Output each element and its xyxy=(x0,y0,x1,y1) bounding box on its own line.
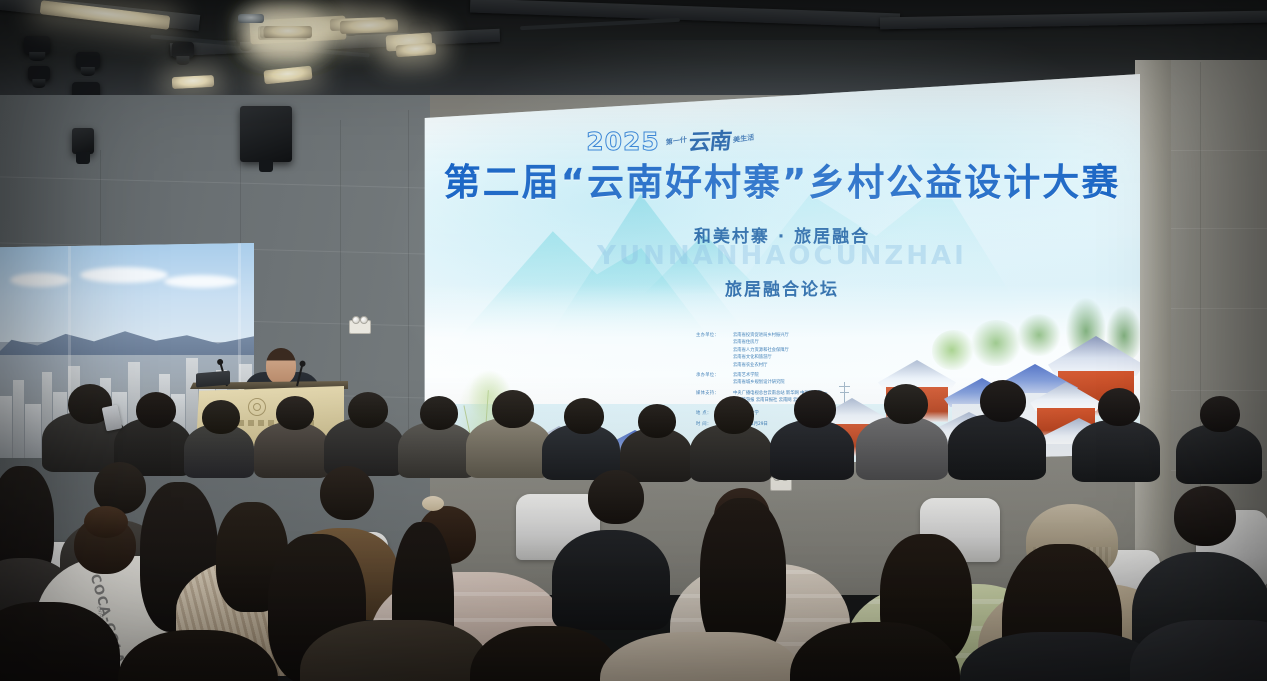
village-tree xyxy=(970,320,1022,366)
person-head xyxy=(1098,388,1140,426)
banner-cloud xyxy=(10,273,70,287)
credit-value: 云南省住房厅 xyxy=(733,339,789,346)
person-head xyxy=(1174,486,1236,546)
person-head xyxy=(348,392,388,428)
banner-cloud xyxy=(80,267,168,283)
credit-value: 云南省农业农村厅 xyxy=(733,362,789,369)
screen-subtitle-2: 旅居融合论坛 xyxy=(424,275,1140,300)
banner-cloud xyxy=(164,275,238,288)
screen-main-title: 第二届“云南好村寨”乡村公益设计大赛 xyxy=(424,152,1140,206)
stage-spotlight-2 xyxy=(76,52,100,69)
brand-small-right: 美生活 xyxy=(733,133,754,144)
person-shoulders xyxy=(254,422,330,478)
brand-small-top: 第一什 xyxy=(666,136,687,147)
emergency-lamp-right xyxy=(360,316,368,324)
credit-values: 云南省投资促进局乡村振兴厅 云南省住房厅 云南省人力资源和社会保障厅 云南省文化… xyxy=(733,332,789,369)
person-shoulders xyxy=(600,632,800,681)
person-shoulders xyxy=(770,420,854,480)
emergency-light xyxy=(349,320,371,334)
person-head xyxy=(276,396,314,430)
screen-headline-block: 2025 第一什 云南 美生活 第二届“云南好村寨”乡村公益设计大赛 和美村寨 … xyxy=(424,124,1140,300)
person-head xyxy=(884,384,928,424)
credit-value: 云南省投资促进局乡村振兴厅 xyxy=(733,332,789,339)
person-shoulders xyxy=(856,416,948,480)
person-head xyxy=(980,380,1026,422)
person-head xyxy=(320,466,374,520)
person-shoulders xyxy=(1072,420,1160,482)
person-shoulders xyxy=(948,414,1046,480)
ceiling-light-flood xyxy=(172,75,215,89)
credit-value: 云南省人力资源和社会保障厅 xyxy=(733,347,789,354)
ceiling-light-dim-1 xyxy=(238,14,264,23)
wall-speaker-left xyxy=(240,106,292,162)
stage-spotlight-5 xyxy=(172,42,194,58)
credit-key: 主办单位： xyxy=(696,332,726,369)
credit-value: 云南省文化和旅游厅 xyxy=(733,354,789,361)
person-head xyxy=(420,396,458,430)
stage-spotlight-3 xyxy=(28,66,50,81)
person-head xyxy=(202,400,240,434)
hair-scrunchie xyxy=(422,496,444,511)
year-logo-row: 2025 第一什 云南 美生活 xyxy=(424,124,1028,156)
ceiling-light-big-square xyxy=(264,26,312,38)
person-head xyxy=(588,470,644,524)
person-shoulders xyxy=(398,422,476,478)
banner-sky xyxy=(0,243,254,342)
wall-speaker-small xyxy=(72,128,94,154)
screen-pinyin-watermark: YUNNANHAOCUNZHAI xyxy=(424,241,1140,271)
person-shoulders xyxy=(552,530,670,630)
person-head xyxy=(794,390,836,428)
photo-scene: 2025 第一什 云南 美生活 第二届“云南好村寨”乡村公益设计大赛 和美村寨 … xyxy=(0,0,1267,681)
person-head xyxy=(564,398,604,434)
ceiling-light-panel-right xyxy=(340,19,398,34)
stage-spotlight-1 xyxy=(24,36,50,54)
brand-main: 云南 xyxy=(687,123,733,156)
person-head xyxy=(492,390,534,428)
audience: COCA-COLA ENJOY ATLANTA GA xyxy=(0,370,1267,681)
person-head xyxy=(136,392,176,428)
person-head xyxy=(714,396,754,434)
emergency-lamp-left xyxy=(352,316,360,324)
person-head xyxy=(1200,396,1240,432)
person-head xyxy=(638,404,676,438)
person-shoulders xyxy=(1176,424,1262,484)
year-text: 2025 xyxy=(586,127,660,156)
yunnan-brand-logo: 第一什 云南 美生活 xyxy=(664,122,756,157)
person-hair-bun xyxy=(84,506,128,538)
